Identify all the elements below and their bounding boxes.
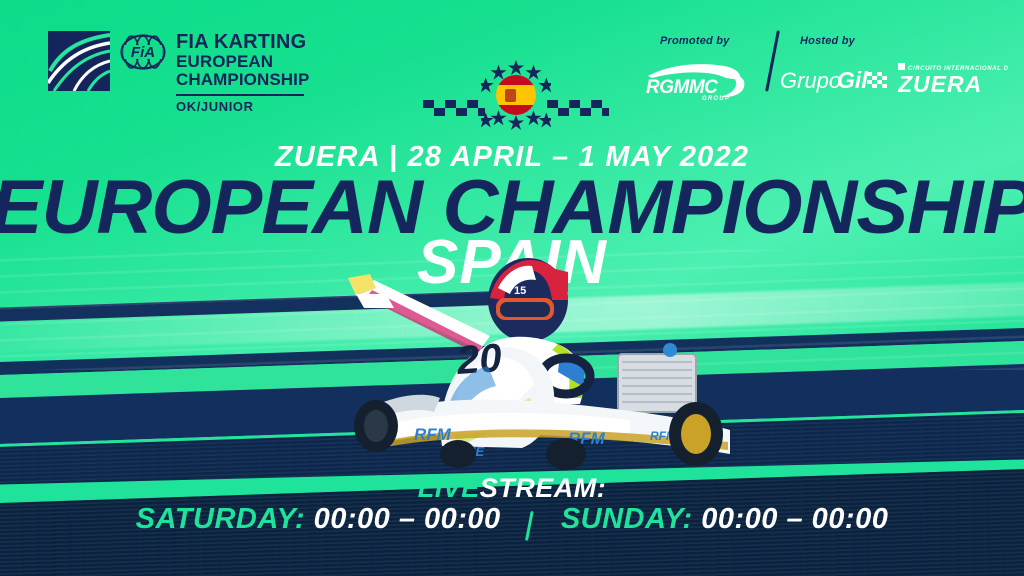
- fia-logo-line1: FIA KARTING: [176, 32, 309, 52]
- credits-block: Promoted by Hosted by RGMMC GROUP Grupo …: [640, 30, 1000, 102]
- kart-radiator: [618, 343, 696, 412]
- svg-text:Grupo: Grupo: [780, 68, 841, 93]
- grupogil-logo-svg: Grupo Gil: [780, 63, 890, 97]
- svg-text:15: 15: [514, 285, 526, 297]
- svg-text:RGMMC: RGMMC: [646, 77, 718, 98]
- svg-text:GROUP: GROUP: [702, 96, 730, 102]
- rgmmc-logo: RGMMC GROUP: [640, 60, 755, 102]
- fia-logo-wordmark: FIA KARTING EUROPEAN CHAMPIONSHIP OK/JUN…: [176, 31, 309, 113]
- fia-logo-line2: EUROPEAN: [176, 53, 309, 70]
- zuera-circuit-logo: CIRCUITO INTERNACIONAL DE ZUERA: [898, 61, 1008, 97]
- fia-logo-line3: CHAMPIONSHIP: [176, 71, 309, 88]
- svg-text:RFM: RFM: [414, 425, 452, 444]
- checkered-flag-right-icon: [547, 100, 609, 122]
- rgmmc-logo-svg: RGMMC GROUP: [640, 60, 755, 102]
- session-day-saturday: SATURDAY:: [136, 503, 305, 535]
- driver-helmet: 15: [488, 258, 568, 342]
- checkered-flag-left-icon: [423, 100, 485, 122]
- svg-text:ZUERA: ZUERA: [898, 71, 982, 97]
- kart-driver-svg: 15 20: [330, 258, 750, 473]
- track-curve-mark-icon: [48, 31, 110, 91]
- promoted-by-label: Promoted by: [660, 35, 729, 47]
- track-curve-svg: [48, 31, 110, 91]
- kart-driver-photo: 15 20: [330, 258, 750, 473]
- livestream-heading-live: LIVE: [418, 473, 480, 503]
- flag-stripe-middle: [496, 85, 536, 105]
- fia-globe-svg: FiA: [120, 33, 166, 71]
- hosted-by-label: Hosted by: [800, 35, 855, 47]
- country-emblem: [425, 60, 605, 132]
- grupogil-logo: Grupo Gil: [780, 63, 890, 97]
- flag-stripe-top: [496, 75, 536, 85]
- livestream-heading-stream: STREAM:: [480, 473, 607, 503]
- session-time-sunday: 00:00 – 00:00: [701, 503, 888, 535]
- fia-globe-icon: FiA: [120, 33, 166, 71]
- fia-karting-logo: FiA FIA KARTING EUROPEAN CHAMPIONSHIP OK…: [48, 31, 309, 113]
- spain-flag-icon: [496, 75, 536, 115]
- svg-text:FiA: FiA: [131, 44, 155, 61]
- flag-coat-of-arms: [505, 89, 516, 102]
- livestream-heading: LIVESTREAM:: [0, 473, 1024, 504]
- session-time-saturday: 00:00 – 00:00: [314, 503, 501, 535]
- livestream-sessions: SATURDAY: 00:00 – 00:00 SUNDAY: 00:00 – …: [0, 503, 1024, 536]
- zuera-logo-svg: CIRCUITO INTERNACIONAL DE ZUERA: [898, 61, 1008, 97]
- session-day-sunday: SUNDAY:: [561, 503, 693, 535]
- credits-divider: [765, 30, 780, 91]
- fia-logo-divider: [176, 94, 304, 96]
- event-poster: FiA FIA KARTING EUROPEAN CHAMPIONSHIP OK…: [0, 0, 1024, 576]
- fia-logo-category: OK/JUNIOR: [176, 100, 309, 113]
- flag-stripe-bottom: [496, 105, 536, 115]
- svg-text:Gil: Gil: [837, 67, 868, 93]
